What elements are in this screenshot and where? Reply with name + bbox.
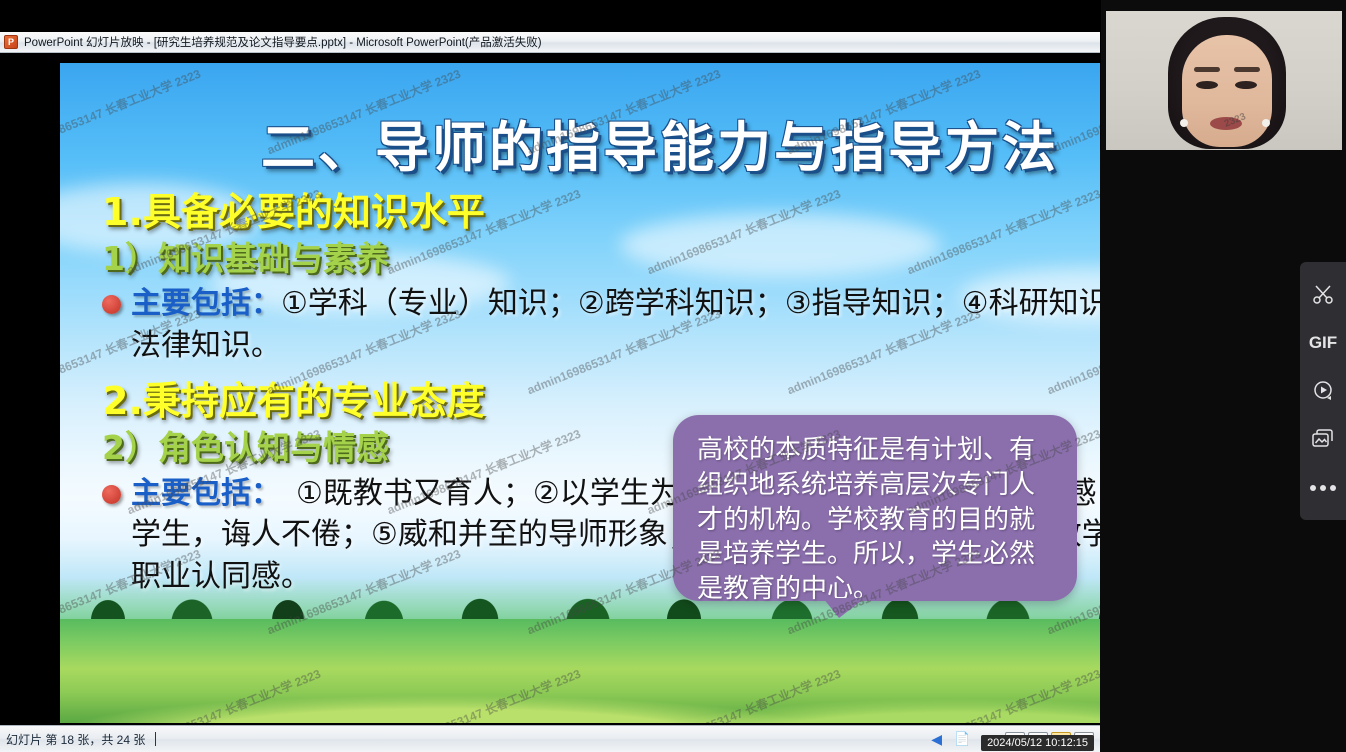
window-title: PowerPoint 幻灯片放映 - [研究生培养规范及论文指导要点.pptx]… xyxy=(24,34,542,50)
gif-icon[interactable]: GIF xyxy=(1306,326,1340,360)
grass-field-decoration xyxy=(60,619,1100,723)
text-caret xyxy=(155,732,156,746)
earring-left xyxy=(1180,119,1188,127)
prev-slide-button[interactable]: ◀ xyxy=(931,731,942,748)
grass-hill-decoration xyxy=(60,653,1100,723)
more-icon[interactable] xyxy=(1306,471,1340,505)
screenshot-icon[interactable] xyxy=(1306,422,1340,456)
powerpoint-status-bar: 幻灯片 第 18 张，共 24 张 ◀ 📄 ▶ 2024/05/12 10:12… xyxy=(0,725,1100,752)
top-black-gutter xyxy=(0,0,1100,32)
callout-bubble: 高校的本质特征是有计划、有组织地系统培养高层次专门人才的机构。学校教育的目的就是… xyxy=(673,415,1077,601)
presenter-eye-right xyxy=(1235,81,1257,89)
bullet-dot-icon xyxy=(102,295,121,314)
camera-video-feed: 2323 xyxy=(1106,11,1342,150)
bullet-lead-1: 主要包括： xyxy=(131,286,281,321)
powerpoint-icon: P xyxy=(4,35,18,49)
section-heading-1: 1.具备必要的知识水平 xyxy=(102,191,1100,234)
slide-left-margin xyxy=(0,106,60,725)
page-icon[interactable]: 📄 xyxy=(954,731,970,747)
slide-canvas[interactable]: 二、导师的指导能力与指导方法 1.具备必要的知识水平 1）知识基础与素养 主要包… xyxy=(60,63,1100,723)
screen-root: P PowerPoint 幻灯片放映 - [研究生培养规范及论文指导要点.ppt… xyxy=(0,0,1346,752)
record-icon[interactable] xyxy=(1306,374,1340,408)
clock-tooltip: 2024/05/12 10:12:15 xyxy=(981,735,1094,751)
bullet-item: 主要包括：①学科（专业）知识；②跨学科知识；③指导知识；④科研知识；⑤相关法律知… xyxy=(102,283,1100,366)
recorder-tool-rail: GIF xyxy=(1300,262,1346,520)
presenter-camera-panel[interactable]: 2323 xyxy=(1100,0,1346,150)
bullet-dot-icon xyxy=(102,485,121,504)
presenter-face xyxy=(1182,35,1272,147)
presenter-brow-right xyxy=(1234,67,1260,72)
bullet-text-1: 主要包括：①学科（专业）知识；②跨学科知识；③指导知识；④科研知识；⑤相关法律知… xyxy=(131,283,1100,366)
callout-tail xyxy=(823,598,865,618)
presenter-brow-left xyxy=(1194,67,1220,72)
more-dots xyxy=(1310,485,1336,491)
earring-right xyxy=(1262,119,1270,127)
scissors-icon[interactable] xyxy=(1306,277,1340,311)
slide-counter: 幻灯片 第 18 张，共 24 张 xyxy=(0,731,145,748)
slide-title: 二、导师的指导能力与指导方法 xyxy=(60,103,1100,182)
section-subheading-1: 1）知识基础与素养 xyxy=(102,240,1100,278)
powerpoint-title-bar: P PowerPoint 幻灯片放映 - [研究生培养规范及论文指导要点.ppt… xyxy=(0,32,1100,53)
presenter-eye-left xyxy=(1196,81,1218,89)
callout-text: 高校的本质特征是有计划、有组织地系统培养高层次专门人才的机构。学校教育的目的就是… xyxy=(697,433,1055,607)
slideshow-stage[interactable]: 二、导师的指导能力与指导方法 1.具备必要的知识水平 1）知识基础与素养 主要包… xyxy=(0,53,1100,725)
gif-label: GIF xyxy=(1309,333,1337,353)
bullet-lead-2: 主要包括： xyxy=(131,476,266,511)
